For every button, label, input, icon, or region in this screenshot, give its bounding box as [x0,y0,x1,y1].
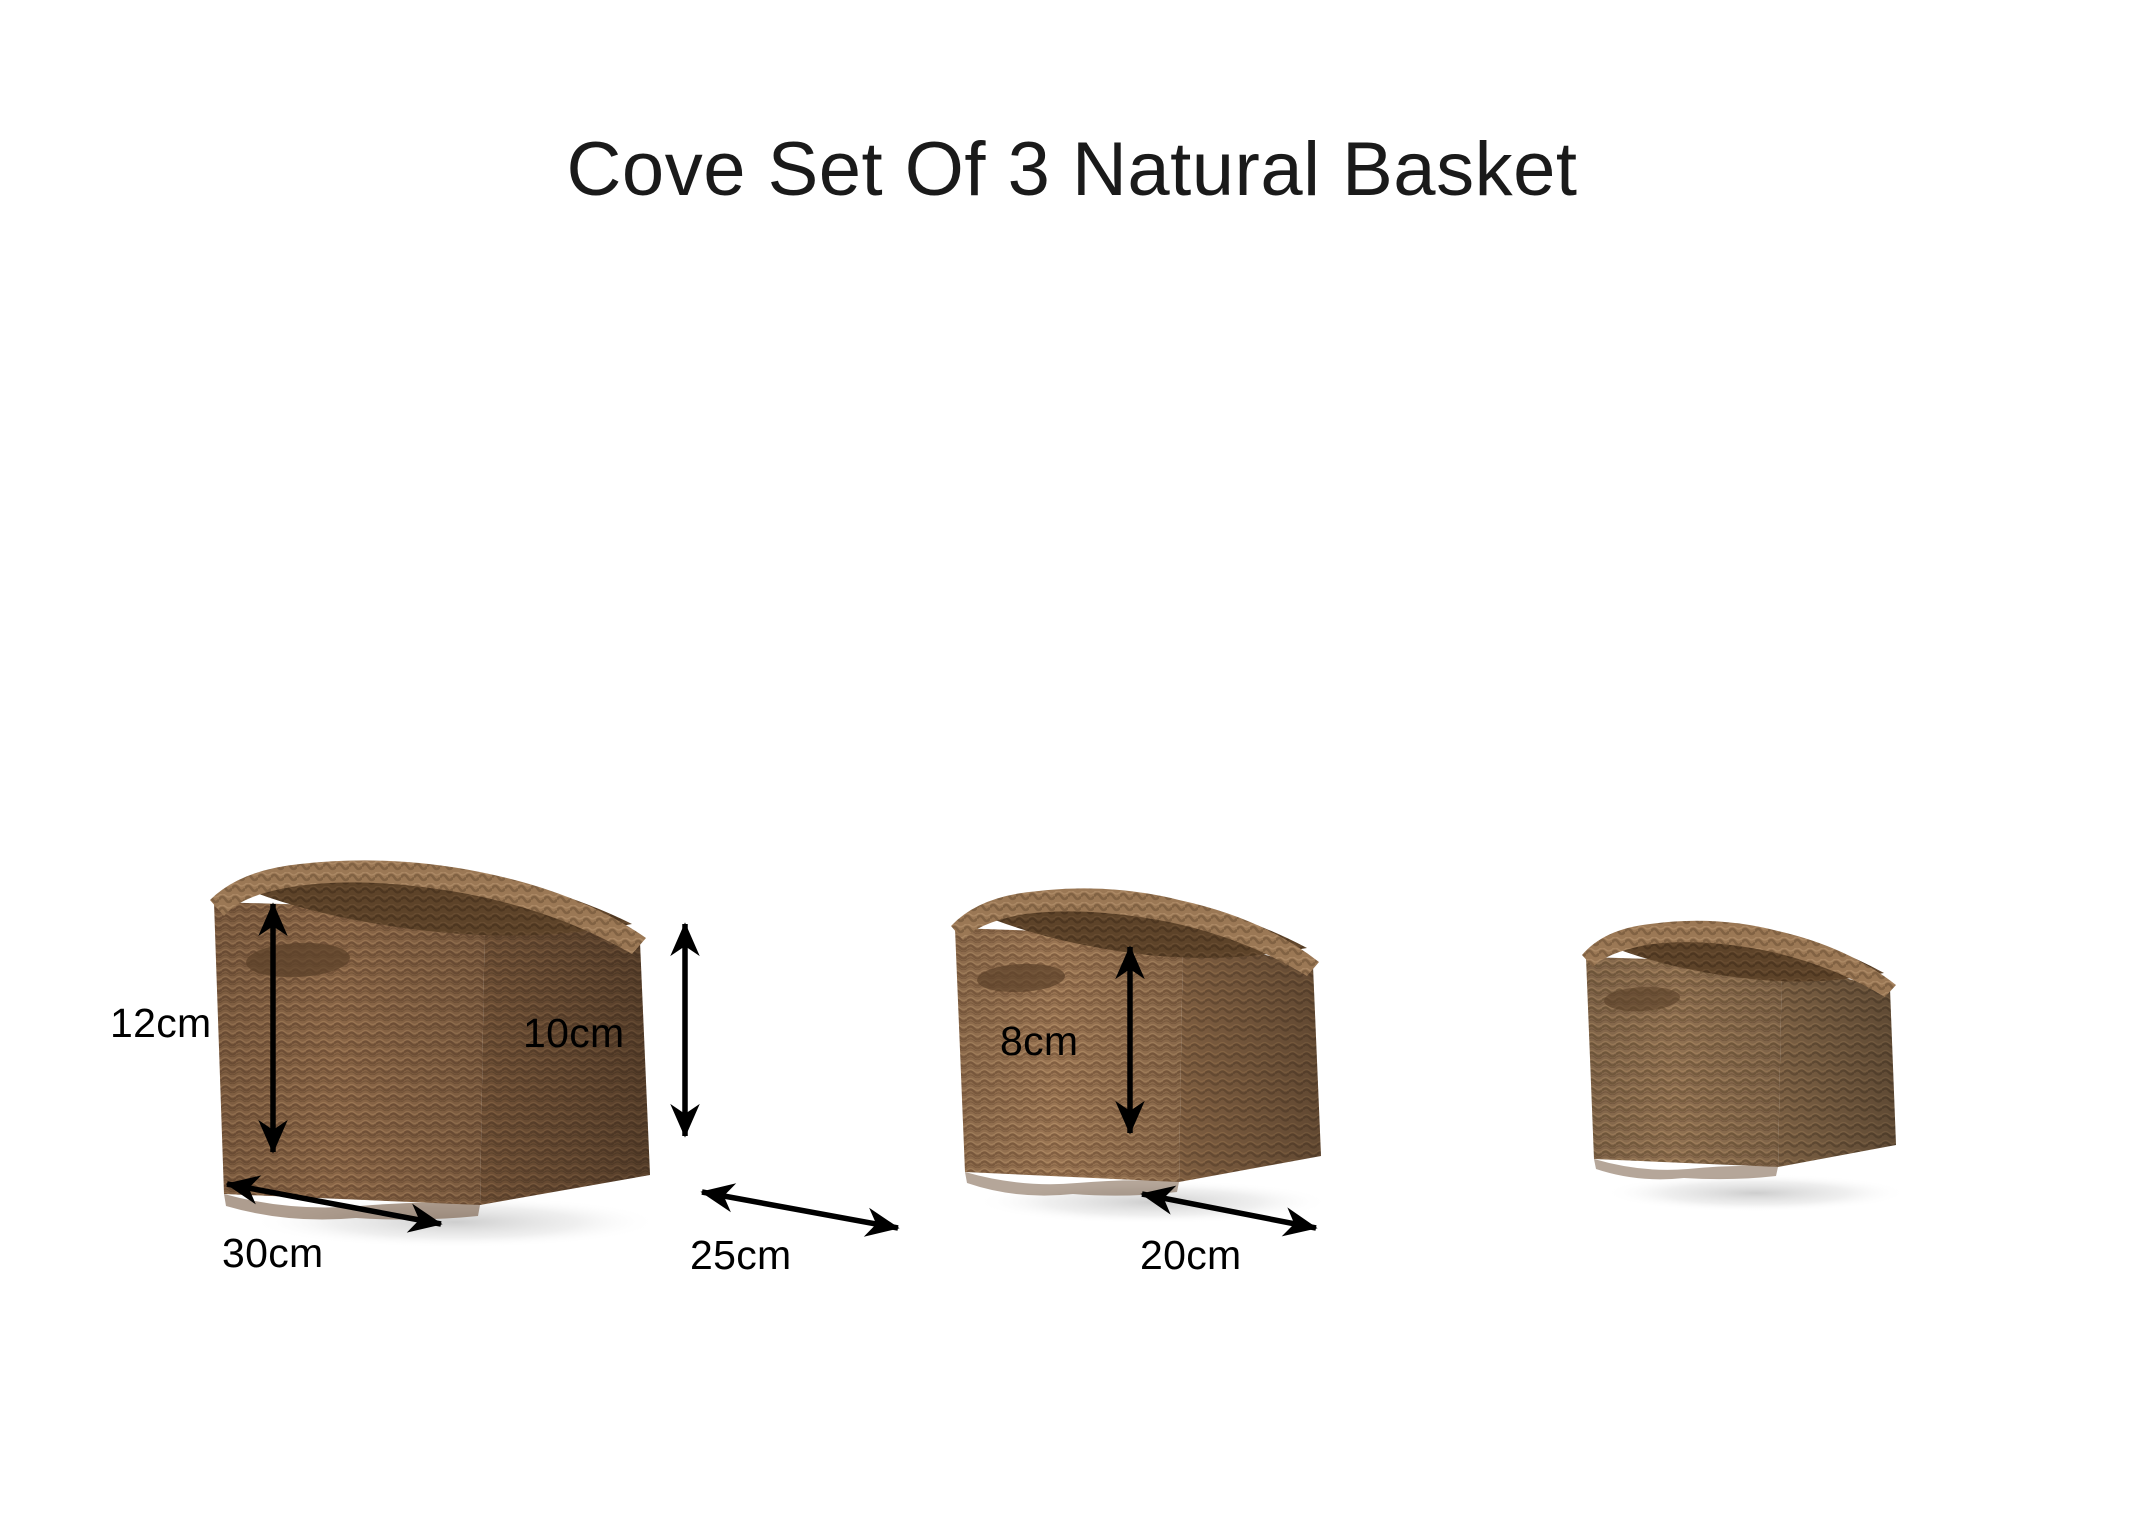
height-arrow-large [243,880,323,1180]
height-label-large: 12cm [110,1000,211,1047]
basket-front-shade-small [1586,957,1782,1167]
width-label-small: 20cm [1140,1232,1241,1279]
height-arrow-small [1100,925,1180,1155]
basket-shadow-small [1604,1174,1908,1212]
basket-side-shade-large [480,910,650,1205]
basket-illustration-small [1560,915,1960,1235]
height-label-small: 8cm [1000,1018,1078,1065]
height-arrow-medium [655,900,735,1160]
page-title: Cove Set Of 3 Natural Basket [0,132,2144,208]
height-label-medium: 10cm [523,1010,624,1057]
basket-side-shade-medium [1179,936,1321,1182]
width-label-large: 30cm [222,1230,323,1277]
basket-side-shade-small [1778,963,1896,1167]
width-label-medium: 25cm [690,1232,791,1279]
